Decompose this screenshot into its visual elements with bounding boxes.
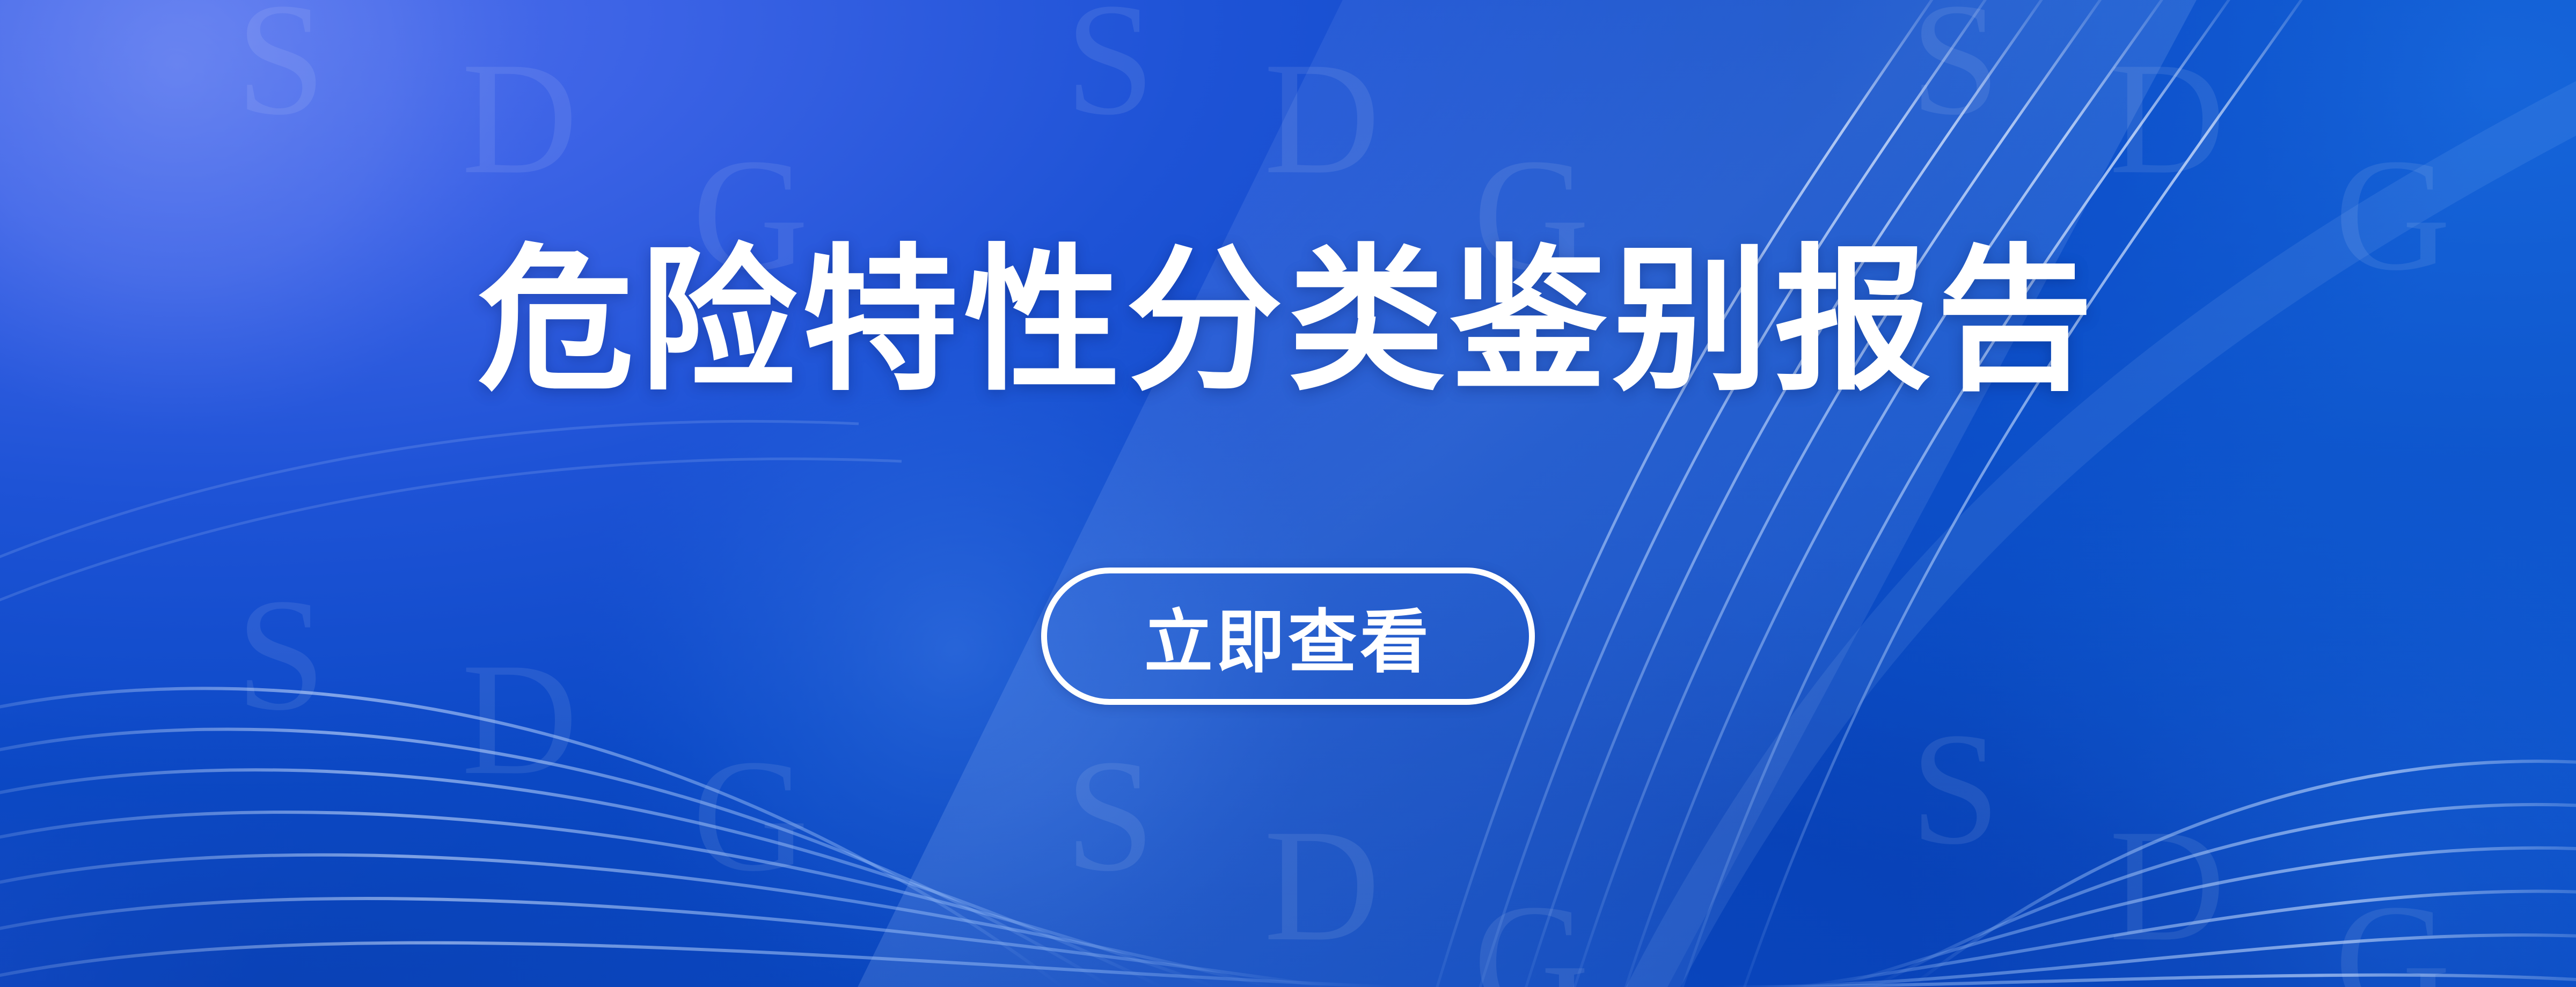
- promo-banner: SDGSDGSDGSDGSDGSDG: [0, 0, 2576, 987]
- view-now-button-label: 立即查看: [1144, 586, 1432, 686]
- page-title: 危险特性分类鉴别报告: [478, 242, 2098, 399]
- banner-content: 危险特性分类鉴别报告 立即查看: [0, 0, 2576, 987]
- view-now-button[interactable]: 立即查看: [1041, 568, 1535, 705]
